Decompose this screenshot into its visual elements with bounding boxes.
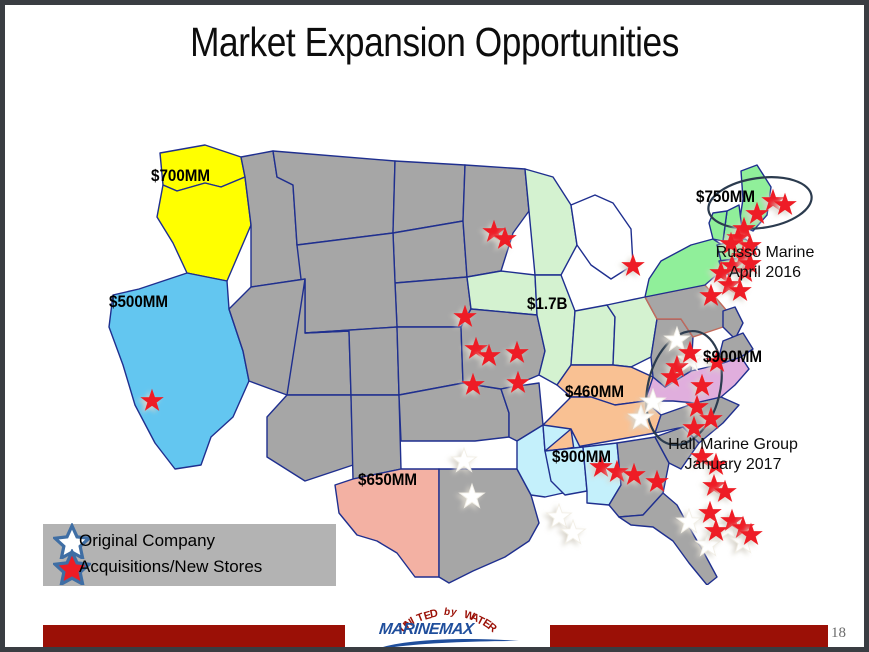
state-michigan[interactable] [571,195,633,279]
footer-bar-left [43,625,345,647]
star-marker-acquisition[interactable] [775,194,796,214]
state-nebraska[interactable] [395,277,471,327]
state-oklahoma[interactable] [399,383,509,441]
logo-tagline-letter: y [450,607,457,618]
legend-label: Acquisitions/New Stores [79,557,262,577]
logo-max: MAX [438,621,474,638]
region-value-gulf-coast: $900MM [552,448,611,467]
state-indiana[interactable] [571,305,615,365]
annotation-line-2: April 2016 [695,263,835,283]
logo-tagline-letter: D [429,608,439,621]
annotation-line-1: Hall Marine Group [648,435,818,455]
state-arizona[interactable] [267,395,353,481]
region-value-new-england: $750MM [696,188,755,207]
state-oregon[interactable] [157,177,251,281]
marinemax-logo: UNITEDbyWATER MARINEMAX [361,601,533,647]
legend-label: Original Company [79,531,215,551]
annotation-line-2: January 2017 [648,455,818,475]
annotation-hall-marine-group: Hall Marine Group January 2017 [648,435,818,476]
star-marker-original-company[interactable] [452,448,477,472]
state-minnesota[interactable] [463,165,529,277]
footer-bar-right [550,625,828,647]
region-value-virginia-carolinas: $900MM [703,348,762,367]
state-ohio[interactable] [607,297,657,367]
legend-item-acquisitions: Acquisitions/New Stores [53,554,262,580]
annotation-line-1: Russo Marine [695,243,835,263]
region-value-tennessee: $460MM [565,383,624,402]
state-wisconsin[interactable] [525,169,577,275]
legend: Original Company Acquisitions/New Stores [43,524,336,586]
page-number: 18 [831,625,859,642]
region-value-midwest: $1.7B [527,295,568,314]
region-value-california: $500MM [109,293,168,312]
us-map-svg [5,65,864,585]
logo-tagline-letter: b [444,607,450,618]
region-value-pacific-northwest: $700MM [151,167,210,186]
page-title: Market Expansion Opportunities [65,19,804,66]
logo-swoosh-icon [381,637,521,647]
state-new-mexico[interactable] [351,395,401,479]
logo-marine: MARINE [378,621,440,638]
annotation-russo-marine: Russo Marine April 2016 [695,243,835,284]
state-wyoming[interactable] [297,233,397,333]
us-map[interactable]: $700MM$500MM$1.7B$460MM$650MM$900MM$750M… [5,65,864,585]
star-marker-acquisition[interactable] [700,502,721,522]
star-marker-original-company[interactable] [547,504,572,528]
state-texas-east[interactable] [439,469,539,583]
region-value-texas-west: $650MM [358,471,417,490]
slide-canvas: Market Expansion Opportunities [5,5,864,647]
